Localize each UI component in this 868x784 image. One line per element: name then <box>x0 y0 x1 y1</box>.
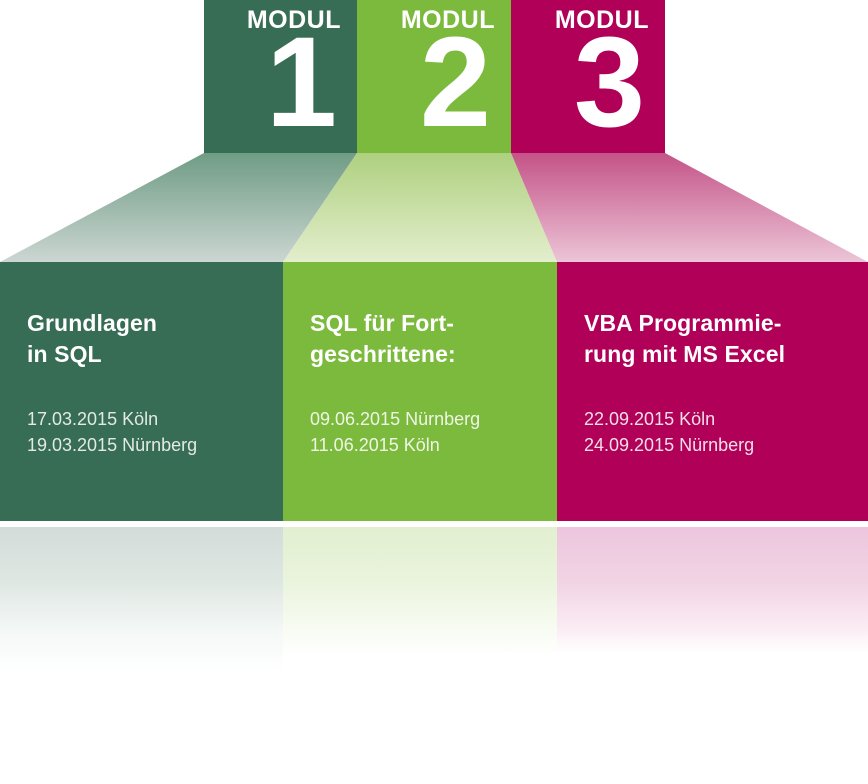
course-panel-2-dates: 09.06.2015 Nürnberg 11.06.2015 Köln <box>310 407 537 458</box>
course-panel-3-title: VBA Programmie- rung mit MS Excel <box>584 308 848 369</box>
module-3-number: 3 <box>574 31 645 136</box>
module-1-number: 1 <box>266 31 337 136</box>
perspective-connector-band <box>0 153 868 262</box>
panel-row: Grundlagen in SQL 17.03.2015 Köln 19.03.… <box>0 262 868 521</box>
course-panel-3-dates: 22.09.2015 Köln 24.09.2015 Nürnberg <box>584 407 848 458</box>
perspective-shape-3 <box>511 153 868 262</box>
module-block-2[interactable]: MODUL 2 <box>357 0 511 153</box>
course-panel-2-title: SQL für Fort- geschrittene: <box>310 308 537 369</box>
module-block-3[interactable]: MODUL 3 <box>511 0 665 153</box>
course-panel-1-dates: 17.03.2015 Köln 19.03.2015 Nürnberg <box>27 407 263 458</box>
reflection-panel-2 <box>283 527 557 657</box>
module-block-row: MODUL 1 MODUL 2 MODUL 3 <box>204 0 665 153</box>
perspective-svg <box>0 153 868 262</box>
reflection-panel-1 <box>0 527 283 672</box>
reflection-panel-3 <box>557 527 868 653</box>
course-panel-1[interactable]: Grundlagen in SQL 17.03.2015 Köln 19.03.… <box>0 262 283 521</box>
reflection-row <box>0 527 868 672</box>
module-block-1[interactable]: MODUL 1 <box>204 0 357 153</box>
course-panel-2[interactable]: SQL für Fort- geschrittene: 09.06.2015 N… <box>283 262 557 521</box>
course-panel-1-title: Grundlagen in SQL <box>27 308 263 369</box>
course-panel-3[interactable]: VBA Programmie- rung mit MS Excel 22.09.… <box>557 262 868 521</box>
course-roadmap-graphic: MODUL 1 MODUL 2 MODUL 3 <box>0 0 868 784</box>
module-2-number: 2 <box>420 31 491 136</box>
